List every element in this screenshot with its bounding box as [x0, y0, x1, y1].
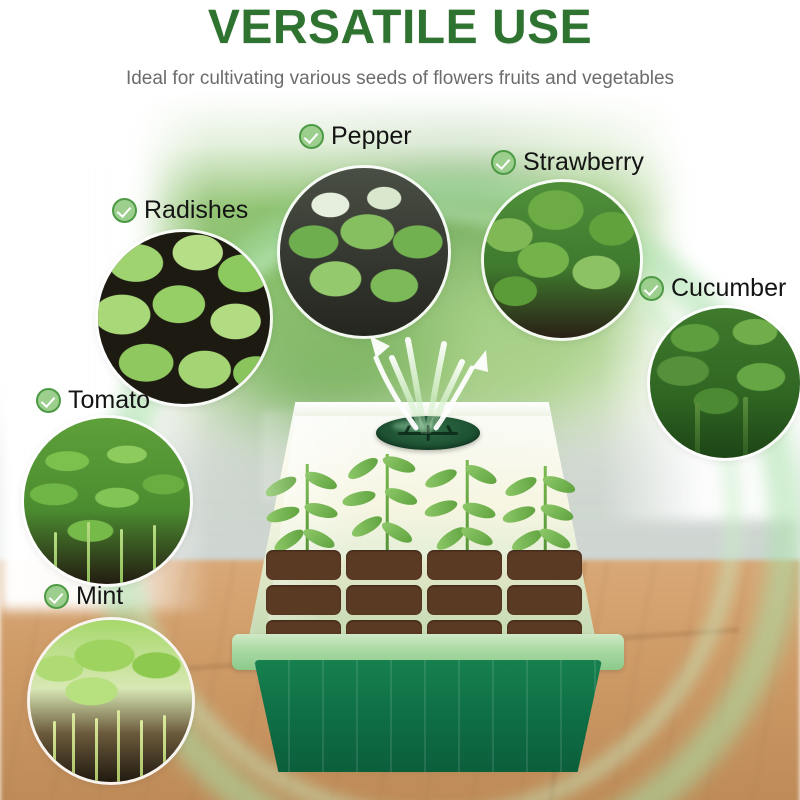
tomato-stems	[24, 498, 190, 584]
page-subtitle: Ideal for cultivating various seeds of f…	[0, 68, 800, 90]
product-marketing-image: VERSATILE USE Ideal for cultivating vari…	[0, 0, 800, 800]
callout-radishes: Radishes	[112, 198, 248, 223]
photo-bubble-radishes	[98, 232, 270, 404]
callout-label-cucumber: Cucumber	[671, 276, 786, 301]
pepper-photo	[280, 168, 448, 336]
check-circle-icon	[44, 584, 69, 609]
soil-cell	[507, 585, 582, 615]
photo-bubble-pepper	[280, 168, 448, 336]
soil-cell	[346, 550, 421, 580]
soil-cell	[427, 550, 502, 580]
seed-starting-tray	[232, 402, 624, 774]
soil-cell	[266, 550, 341, 580]
callout-label-mint: Mint	[76, 584, 123, 609]
check-circle-icon	[112, 198, 137, 223]
mint-stems	[30, 698, 192, 782]
callout-cucumber: Cucumber	[639, 276, 786, 301]
soil-cell	[346, 585, 421, 615]
callout-pepper: Pepper	[299, 124, 412, 149]
tray-base	[254, 660, 602, 772]
photo-bubble-mint	[30, 620, 192, 782]
check-circle-icon	[36, 388, 61, 413]
tray-base-ribs	[254, 660, 602, 772]
soil-cell	[266, 585, 341, 615]
soil-cell	[507, 550, 582, 580]
strawberry-photo	[484, 182, 640, 338]
photo-bubble-strawberry	[484, 182, 640, 338]
tray-base-highlight	[262, 410, 322, 502]
check-circle-icon	[299, 124, 324, 149]
header: VERSATILE USE Ideal for cultivating vari…	[0, 0, 800, 90]
page-title: VERSATILE USE	[0, 0, 800, 52]
check-circle-icon	[639, 276, 664, 301]
callout-label-radishes: Radishes	[144, 198, 248, 223]
callout-mint: Mint	[44, 584, 123, 609]
airflow-arrows-icon	[350, 324, 500, 434]
radishes-photo	[98, 232, 270, 404]
photo-bubble-cucumber	[650, 308, 800, 458]
callout-label-pepper: Pepper	[331, 124, 412, 149]
check-circle-icon	[491, 150, 516, 175]
callout-label-strawberry: Strawberry	[523, 150, 644, 175]
callout-label-tomato: Tomato	[68, 388, 150, 413]
callout-tomato: Tomato	[36, 388, 150, 413]
cucumber-stems	[650, 380, 800, 458]
callout-strawberry: Strawberry	[491, 150, 644, 175]
photo-bubble-tomato	[24, 418, 190, 584]
soil-cell	[427, 585, 502, 615]
